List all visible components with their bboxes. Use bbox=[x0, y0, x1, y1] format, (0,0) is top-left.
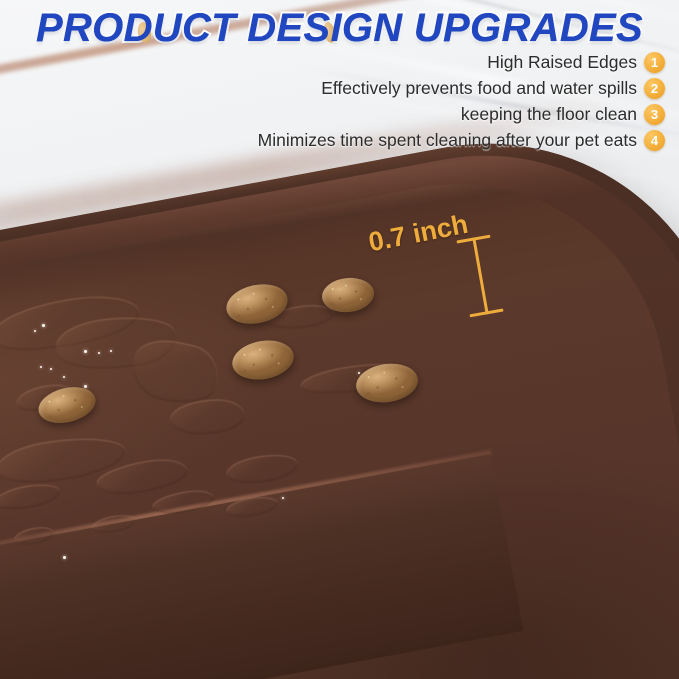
water-sparkle bbox=[358, 372, 360, 374]
page-title: PRODUCT DESIGN UPGRADES bbox=[0, 6, 679, 51]
water-sparkle bbox=[282, 497, 284, 499]
feature-item: Minimizes time spent cleaning after your… bbox=[258, 130, 665, 151]
feature-label: keeping the floor clean bbox=[461, 104, 637, 125]
feature-number-badge: 3 bbox=[644, 104, 665, 125]
feature-number-badge: 1 bbox=[644, 52, 665, 73]
feature-list: High Raised Edges 1 Effectively prevents… bbox=[258, 52, 665, 151]
water-sparkle bbox=[42, 324, 45, 327]
feature-label: High Raised Edges bbox=[487, 52, 637, 73]
feature-item: keeping the floor clean 3 bbox=[461, 104, 665, 125]
water-sparkle bbox=[110, 350, 112, 352]
feature-number-badge: 4 bbox=[644, 130, 665, 151]
water-sparkle bbox=[50, 368, 52, 370]
feature-item: Effectively prevents food and water spil… bbox=[321, 78, 665, 99]
water-sparkle bbox=[84, 350, 87, 353]
water-sparkle bbox=[63, 556, 66, 559]
feature-label: Minimizes time spent cleaning after your… bbox=[258, 130, 637, 151]
water-sparkle bbox=[34, 330, 36, 332]
water-sparkle bbox=[40, 366, 42, 368]
water-sparkle bbox=[98, 352, 100, 354]
ibeam-stem bbox=[472, 237, 488, 314]
product-image: 0.7 inch PRODUCT DESIGN UPGRADES PRODUCT… bbox=[0, 0, 679, 679]
feature-item: High Raised Edges 1 bbox=[487, 52, 665, 73]
feature-label: Effectively prevents food and water spil… bbox=[321, 78, 637, 99]
feature-number-badge: 2 bbox=[644, 78, 665, 99]
water-sparkle bbox=[63, 376, 65, 378]
